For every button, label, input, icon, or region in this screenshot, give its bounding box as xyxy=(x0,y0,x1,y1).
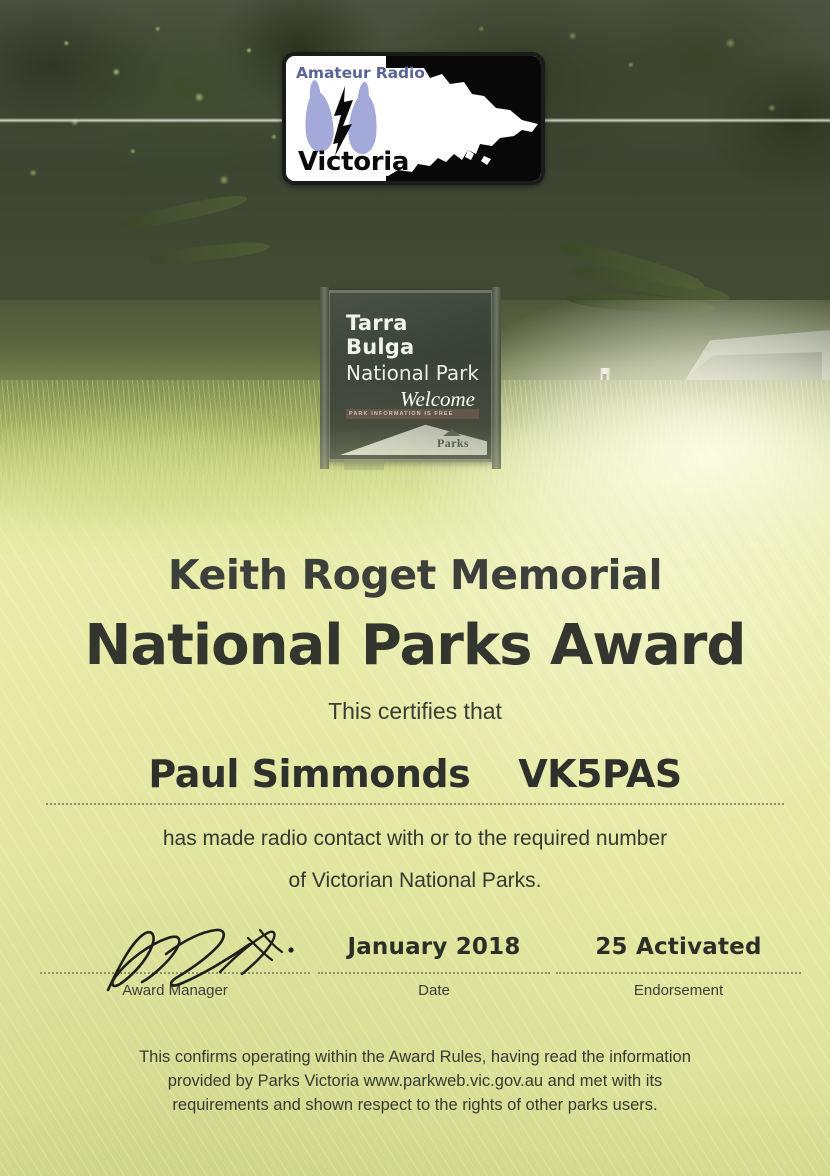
recipient-underline xyxy=(46,803,784,805)
endorsement-underline xyxy=(556,972,801,974)
recipient-callsign: VK5PAS xyxy=(518,752,681,796)
award-title-line1: Keith Roget Memorial xyxy=(0,551,830,599)
award-body-line2: of Victorian National Parks. xyxy=(0,869,830,893)
award-title-line2: National Parks Award xyxy=(0,613,830,678)
award-manager-field: Award Manager xyxy=(40,928,310,999)
footer-line2: provided by Parks Victoria www.parkweb.v… xyxy=(0,1070,830,1094)
award-body-line1: has made radio contact with or to the re… xyxy=(0,827,830,851)
award-manager-underline xyxy=(40,972,310,974)
date-underline xyxy=(318,972,550,974)
recipient-row: Paul Simmonds VK5PAS xyxy=(0,752,830,796)
award-manager-value xyxy=(40,928,310,966)
recipient-name: Paul Simmonds xyxy=(148,752,470,796)
footer-line1: This confirms operating within the Award… xyxy=(0,1046,830,1070)
date-value: January 2018 xyxy=(318,928,550,966)
certificate-content: Keith Roget Memorial National Parks Awar… xyxy=(0,0,830,1176)
endorsement-value: 25 Activated xyxy=(556,928,801,966)
footer-disclaimer: This confirms operating within the Award… xyxy=(0,1046,830,1118)
endorsement-label: Endorsement xyxy=(556,982,801,999)
footer-line3: requirements and shown respect to the ri… xyxy=(0,1094,830,1118)
date-label: Date xyxy=(318,982,550,999)
certifies-text: This certifies that xyxy=(0,698,830,725)
date-field: January 2018 Date xyxy=(318,928,550,999)
award-manager-label: Award Manager xyxy=(40,982,310,999)
endorsement-field: 25 Activated Endorsement xyxy=(556,928,801,999)
certificate-page: Tarra Bulga National Park Welcome PARK I… xyxy=(0,0,830,1176)
signature-row: Award Manager January 2018 Date 25 Activ… xyxy=(0,928,830,1018)
